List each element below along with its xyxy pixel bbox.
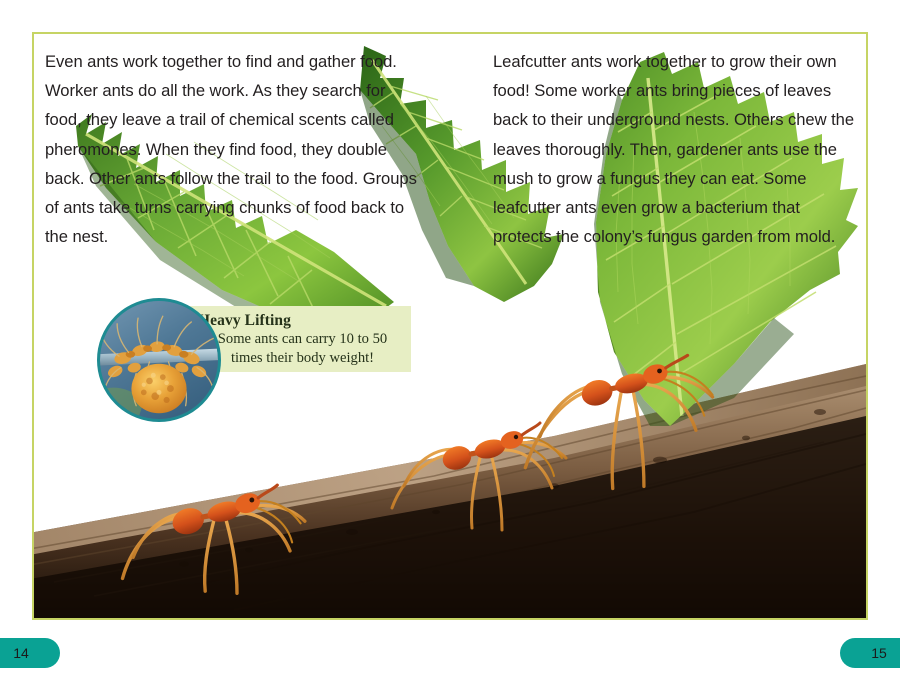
book-page-spread: Heavy Lifting Some ants can carry 10 to …: [32, 32, 868, 620]
right-column-paragraph: Leafcutter ants work together to grow th…: [493, 47, 861, 251]
inset-circle-photo: [97, 298, 221, 422]
page-number-left: 14: [0, 638, 60, 668]
page-number-right: 15: [840, 638, 900, 668]
left-column-paragraph: Even ants work together to find and gath…: [45, 47, 419, 251]
callout-title: Heavy Lifting: [198, 312, 401, 330]
callout-body: Some ants can carry 10 to 50 times their…: [198, 330, 401, 368]
inset-artwork: [100, 301, 218, 419]
